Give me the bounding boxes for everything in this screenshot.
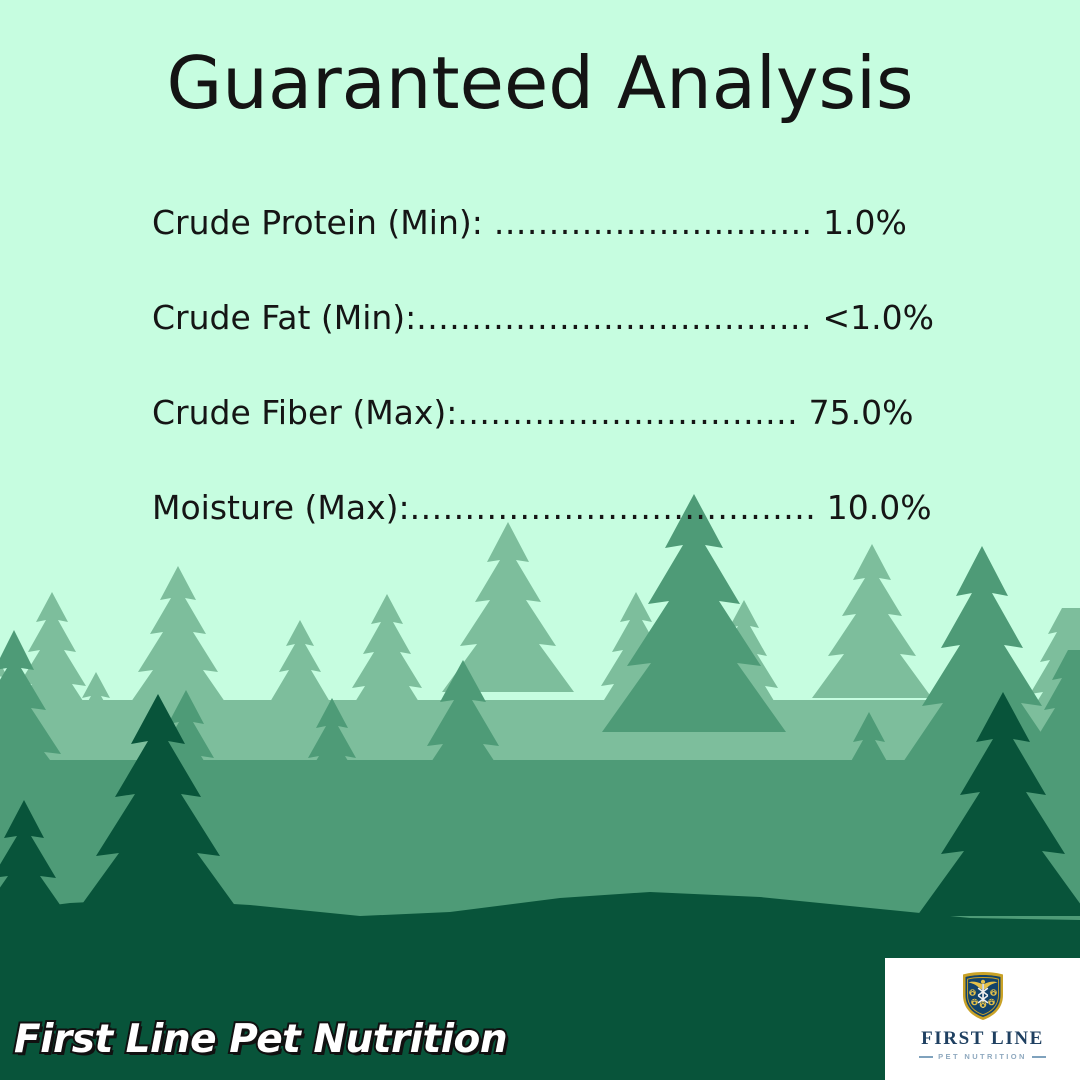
brand-logo-card: FIRST LINE PET NUTRITION: [885, 958, 1080, 1080]
analysis-label: Crude Fat (Min):: [152, 298, 416, 337]
page-title: Guaranteed Analysis: [0, 44, 1080, 123]
analysis-row: Crude Fiber (Max):......................…: [152, 396, 942, 429]
analysis-leader-dots: .....................................: [410, 488, 817, 527]
forest-illustration: [0, 0, 1080, 1080]
analysis-leader-dots: .............................: [483, 203, 813, 242]
analysis-value: 10.0%: [827, 488, 932, 527]
analysis-label: Crude Protein (Min):: [152, 203, 483, 242]
analysis-leader-dots: ....................................: [416, 298, 812, 337]
analysis-label: Crude Fiber (Max):: [152, 393, 457, 432]
tagline-rule-right: [1032, 1056, 1046, 1058]
guaranteed-analysis-list: Crude Protein (Min): ...................…: [152, 206, 942, 524]
analysis-value: 1.0%: [823, 203, 907, 242]
brand-wordmark: First Line Pet Nutrition: [14, 1017, 507, 1062]
analysis-row: Crude Fat (Min):........................…: [152, 301, 942, 334]
guaranteed-analysis-card: Guaranteed Analysis Crude Protein (Min):…: [0, 0, 1080, 1080]
logo-tagline: PET NUTRITION: [938, 1053, 1027, 1061]
analysis-row: Moisture (Max):.........................…: [152, 491, 942, 524]
analysis-label: Moisture (Max):: [152, 488, 410, 527]
analysis-value: 75.0%: [809, 393, 914, 432]
logo-brand-name: FIRST LINE: [921, 1029, 1044, 1048]
analysis-leader-dots: ...............................: [457, 393, 798, 432]
tagline-rule-left: [919, 1056, 933, 1058]
logo-tagline-group: PET NUTRITION: [919, 1053, 1046, 1061]
analysis-row: Crude Protein (Min): ...................…: [152, 206, 942, 239]
shield-caduceus-icon: [960, 971, 1006, 1021]
analysis-value: <1.0%: [822, 298, 934, 337]
